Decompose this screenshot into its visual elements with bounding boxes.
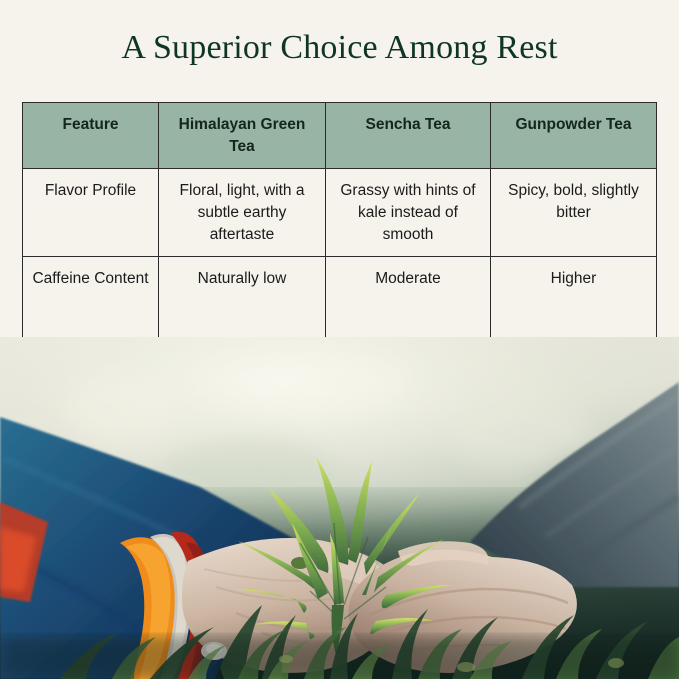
table-row: Caffeine Content Naturally low Moderate … [23,257,657,340]
row-label-caffeine-content: Caffeine Content [23,257,159,340]
cell-flavor-gunpowder: Spicy, bold, slightly bitter [491,169,657,257]
title-area: A Superior Choice Among Rest [0,0,679,96]
table-header-row: Feature Himalayan Green Tea Sencha Tea G… [23,103,657,169]
cell-caffeine-gunpowder: Higher [491,257,657,340]
row-label-flavor-profile: Flavor Profile [23,169,159,257]
table-row: Flavor Profile Floral, light, with a sub… [23,169,657,257]
poster-root: A Superior Choice Among Rest Feature Him… [0,0,679,679]
column-header-himalayan-green-tea: Himalayan Green Tea [159,103,326,169]
page-title: A Superior Choice Among Rest [121,28,557,68]
photo-illustration [0,337,679,679]
cell-caffeine-himalayan: Naturally low [159,257,326,340]
comparison-table: Feature Himalayan Green Tea Sencha Tea G… [22,102,657,340]
comparison-table-wrapper: Feature Himalayan Green Tea Sencha Tea G… [22,102,656,340]
column-header-gunpowder-tea: Gunpowder Tea [491,103,657,169]
cell-caffeine-sencha: Moderate [326,257,491,340]
cell-flavor-sencha: Grassy with hints of kale instead of smo… [326,169,491,257]
column-header-feature: Feature [23,103,159,169]
cell-flavor-himalayan: Floral, light, with a subtle earthy afte… [159,169,326,257]
tea-plantation-photo [0,337,679,679]
column-header-sencha-tea: Sencha Tea [326,103,491,169]
